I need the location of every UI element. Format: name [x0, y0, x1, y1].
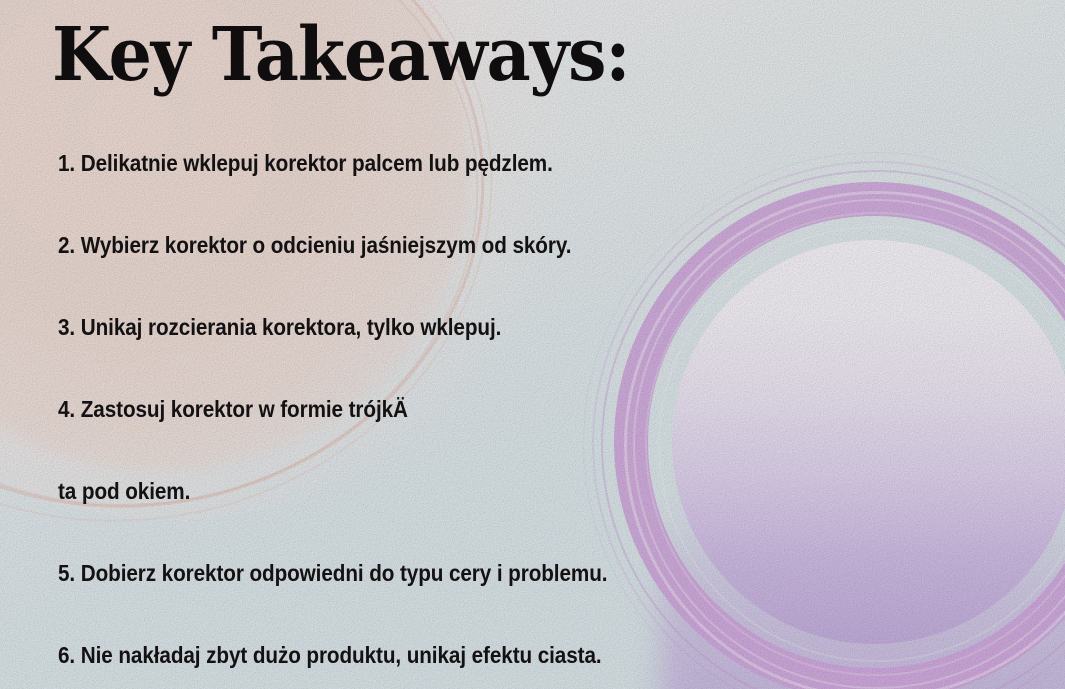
- infographic-canvas: Key Takeaways: 1. Delikatnie wklepuj kor…: [0, 0, 1065, 689]
- list-item: 5. Dobierz korektor odpowiedni do typu c…: [58, 562, 922, 644]
- list-item: ta pod okiem.: [58, 480, 922, 562]
- list-item: 6. Nie nakładaj zbyt dużo produktu, unik…: [58, 644, 922, 689]
- list-item: 1. Delikatnie wklepuj korektor palcem lu…: [58, 152, 922, 234]
- list-item: 4. Zastosuj korektor w formie trójkÄ: [58, 398, 922, 480]
- list-item: 3. Unikaj rozcierania korektora, tylko w…: [58, 316, 922, 398]
- list-item: 2. Wybierz korektor o odcieniu jaśniejsz…: [58, 234, 922, 316]
- takeaways-list: 1. Delikatnie wklepuj korektor palcem lu…: [58, 152, 1018, 689]
- content-layer: Key Takeaways: 1. Delikatnie wklepuj kor…: [0, 0, 1065, 689]
- page-title: Key Takeaways:: [52, 17, 629, 95]
